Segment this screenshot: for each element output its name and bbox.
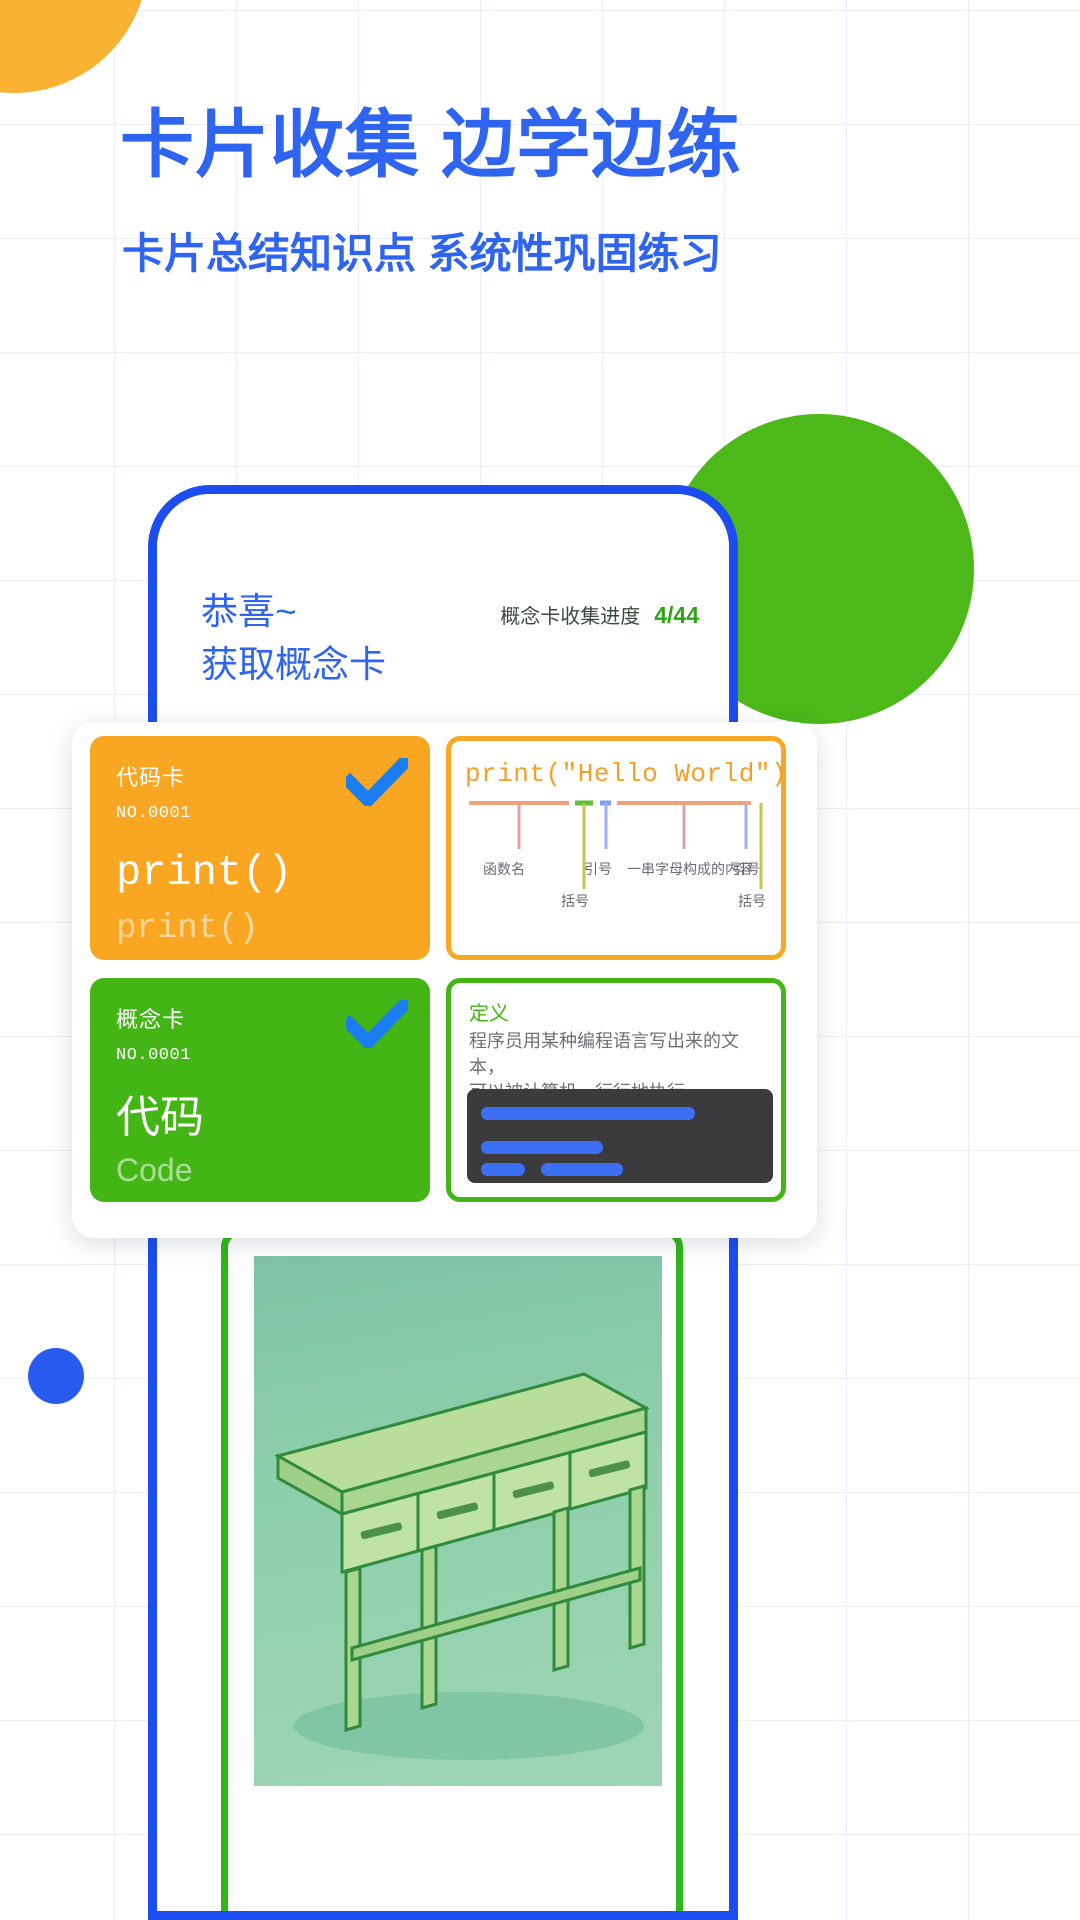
collection-progress: 概念卡收集进度 4/44 (500, 586, 699, 629)
syntax-label-parentheses: 括号 (561, 891, 589, 911)
congrats-line-2: 获取概念卡 (201, 639, 386, 692)
card-row: 代码卡 NO.0001 print() print() print("Hello… (90, 736, 800, 960)
code-line (481, 1163, 525, 1176)
phone-screen-header: 恭喜~ 获取概念卡 概念卡收集进度 4/44 (201, 586, 699, 691)
definition-title: 定义 (469, 997, 509, 1026)
definition-detail-card: 定义 程序员用某种编程语言写出来的文本， 可以被计算机一行行地执行。 (446, 978, 786, 1202)
decorative-blue-dot (28, 1348, 84, 1404)
cards-grid: 代码卡 NO.0001 print() print() print("Hello… (90, 736, 800, 1202)
syntax-label-parentheses-close: 括号 (738, 891, 766, 911)
card-number: NO.0001 (116, 804, 404, 823)
congrats-line-1: 恭喜~ (201, 586, 386, 639)
progress-label: 概念卡收集进度 (500, 600, 640, 629)
card-subtitle: print() (116, 912, 259, 946)
page-subtitle: 卡片总结知识点 系统性巩固练习 (122, 233, 722, 275)
desk-illustration-frame (221, 1229, 683, 1920)
code-line (481, 1107, 695, 1120)
code-snippet-placeholder (467, 1089, 773, 1183)
desk-illustration (254, 1256, 662, 1786)
card-subtitle: Code (116, 1154, 193, 1186)
card-collection-panel: 代码卡 NO.0001 print() print() print("Hello… (72, 722, 817, 1238)
check-icon (346, 1000, 408, 1048)
page-title: 卡片收集 边学边练 (120, 108, 742, 182)
syntax-label-quote-open: 引号 (584, 859, 612, 879)
card-title: 代码 (116, 1096, 204, 1140)
code-line (541, 1163, 623, 1176)
code-line (481, 1141, 603, 1154)
flash-card-concept[interactable]: 概念卡 NO.0001 代码 Code (90, 978, 430, 1202)
card-number: NO.0001 (116, 1046, 404, 1065)
congrats-block: 恭喜~ 获取概念卡 (201, 586, 386, 691)
definition-body-line-1: 程序员用某种编程语言写出来的文本， (469, 1029, 769, 1080)
promo-screen: 卡片收集 边学边练 卡片总结知识点 系统性巩固练习 恭喜~ 获取概念卡 概念卡收… (0, 0, 1080, 1920)
syntax-code: print("Hello World") (465, 759, 787, 789)
check-icon (346, 758, 408, 806)
syntax-label-quote-close: 引号 (732, 859, 760, 879)
card-row: 概念卡 NO.0001 代码 Code 定义 程序员用某种编程语言写出来的文本，… (90, 978, 800, 1202)
progress-count: 4/44 (654, 602, 699, 629)
syntax-detail-card: print("Hello World") (446, 736, 786, 960)
desk-drawing (254, 1256, 662, 1786)
card-title: print() (116, 852, 292, 894)
flash-card-code[interactable]: 代码卡 NO.0001 print() print() (90, 736, 430, 960)
syntax-label-function-name: 函数名 (483, 859, 525, 879)
